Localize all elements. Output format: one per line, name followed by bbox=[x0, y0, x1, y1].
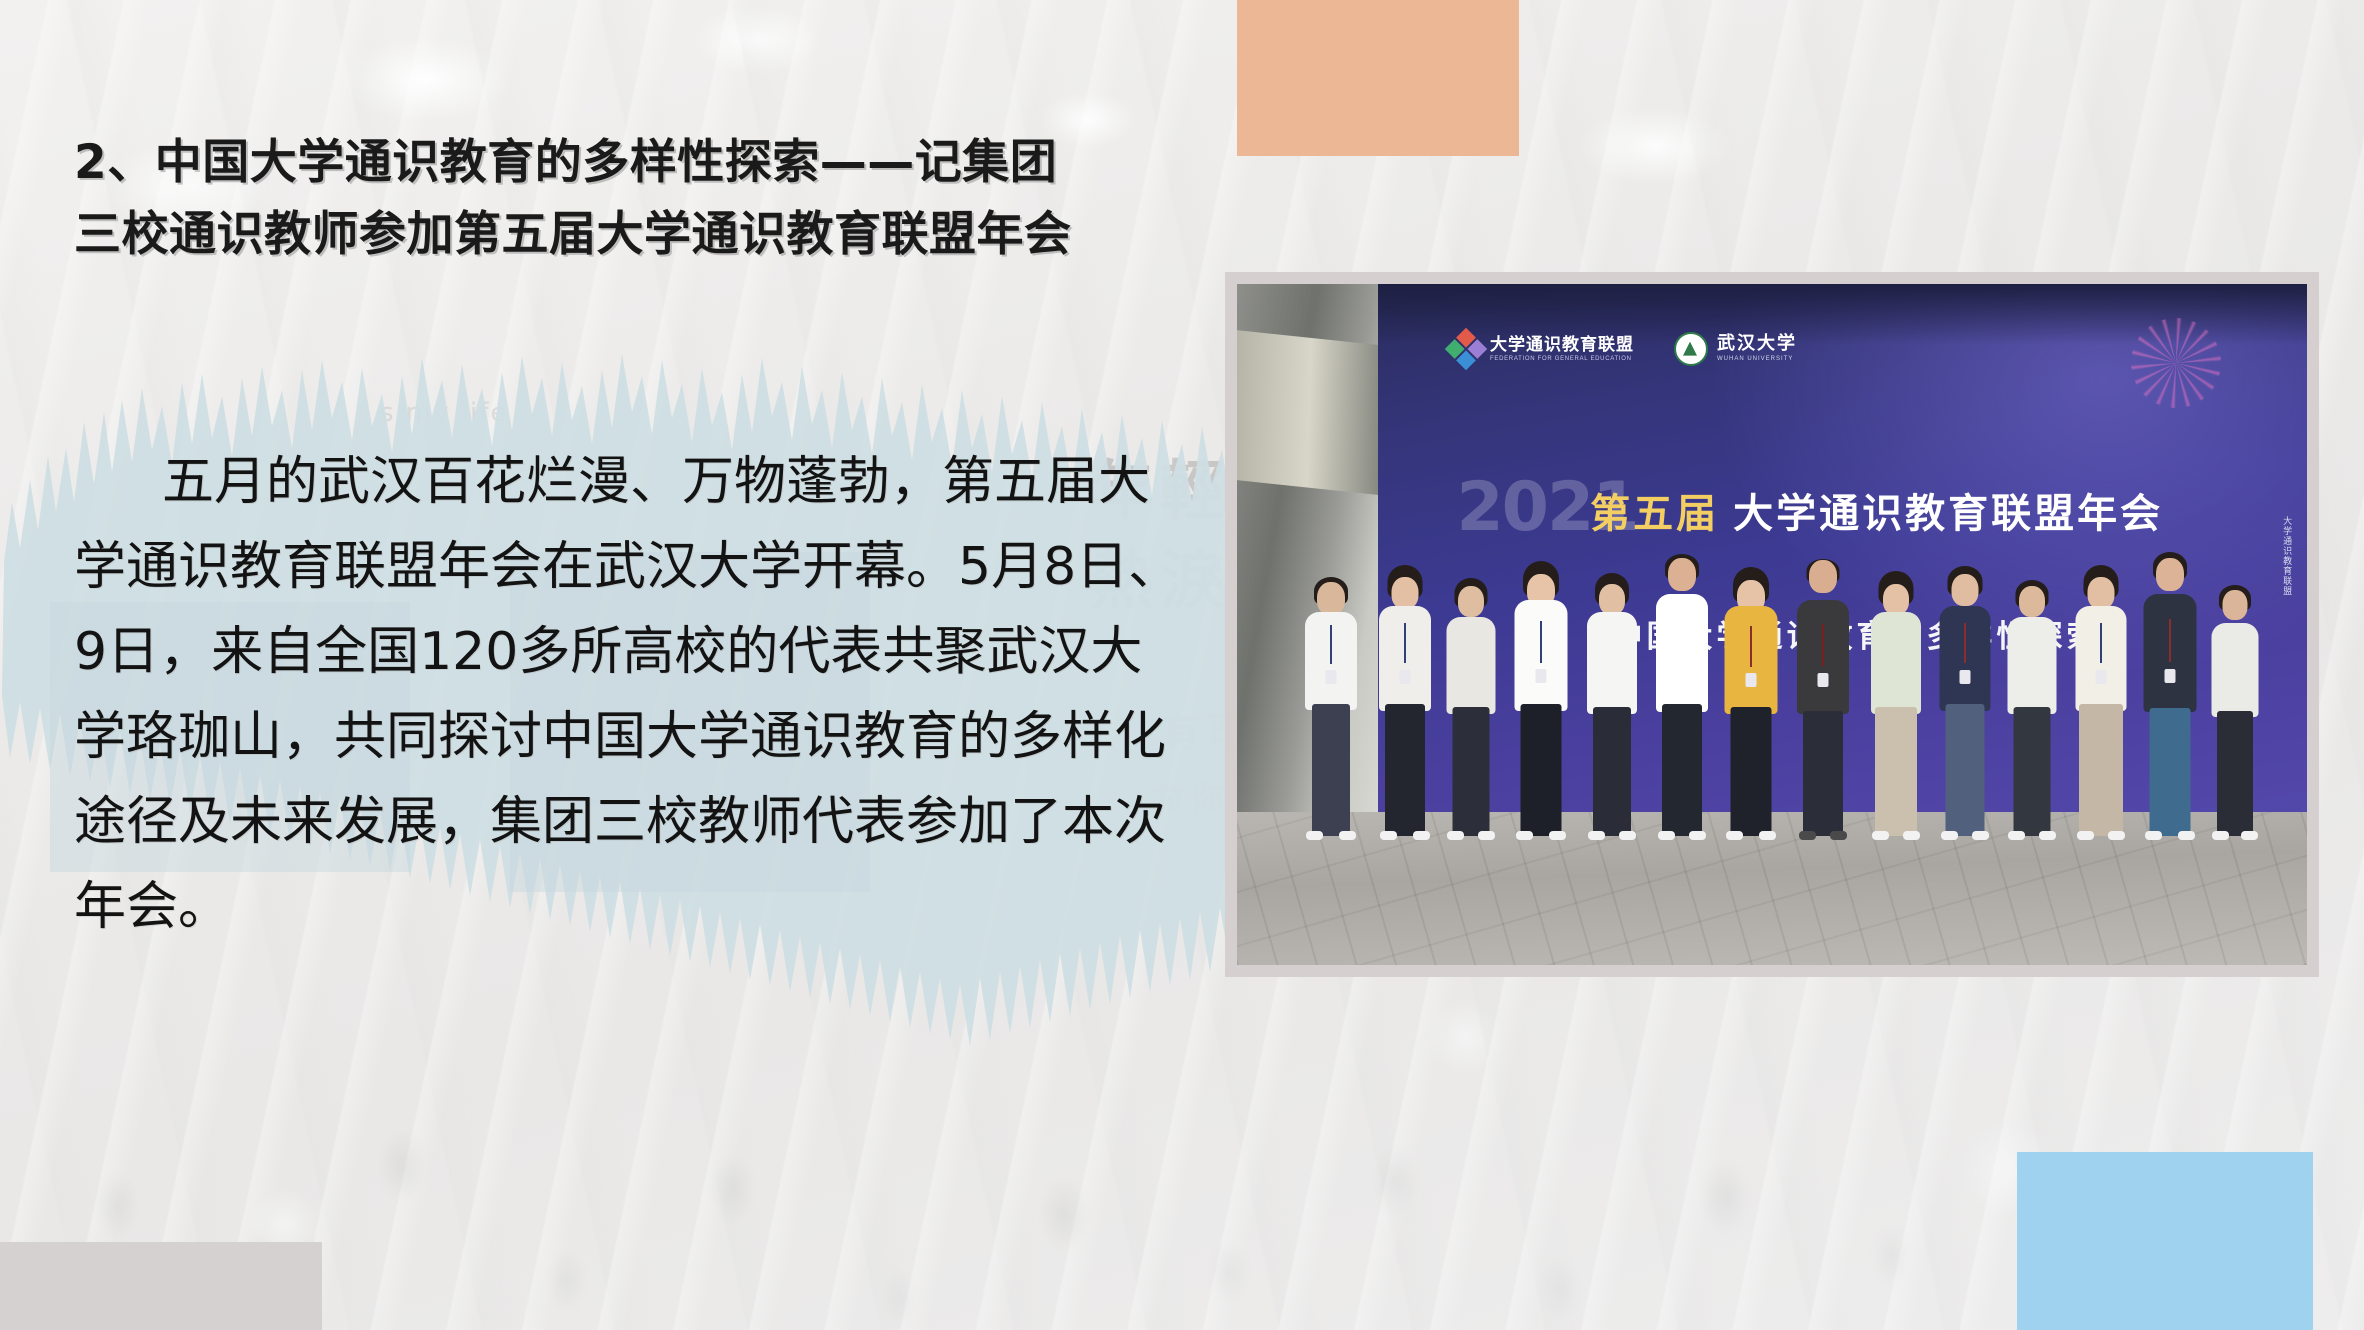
decorative-rect-peach bbox=[1237, 0, 1519, 156]
decorative-rect-blue bbox=[2017, 1152, 2313, 1330]
body-paragraph: 五月的武汉百花烂漫、万物蓬勃，第五届大 学通识教育联盟年会在武汉大学开幕。5月8… bbox=[74, 440, 1164, 950]
university-logo: 武汉大学 WUHAN UNIVERSITY bbox=[1674, 332, 1797, 366]
body-line-5: 途径及未来发展，集团三校教师代表参加了本次 bbox=[74, 780, 1164, 865]
body-line-2: 学通识教育联盟年会在武汉大学开幕。5月8日、 bbox=[74, 525, 1164, 610]
person-figure bbox=[1720, 498, 1782, 836]
university-name-en: WUHAN UNIVERSITY bbox=[1717, 356, 1797, 362]
banner-logo-row: 大学通识教育联盟 FEDERATION FOR GENERAL EDUCATIO… bbox=[1451, 332, 1797, 366]
body-line-4: 学珞珈山，共同探讨中国大学通识教育的多样化 bbox=[74, 695, 1164, 780]
alliance-diamond-icon bbox=[1445, 327, 1487, 369]
university-name-cn: 武汉大学 bbox=[1717, 335, 1797, 353]
presentation-slide: 年輕 熱淚 有理想的人不应该… 为你唱首歌 s my life 2、中国大学通识… bbox=[0, 0, 2364, 1330]
body-line-3: 9日，来自全国120多所高校的代表共聚武汉大 bbox=[74, 610, 1164, 695]
title-line-1: 2、中国大学通识教育的多样性探索——记集团 bbox=[74, 127, 1194, 199]
alliance-logo-en: FEDERATION FOR GENERAL EDUCATION bbox=[1490, 356, 1634, 362]
photo-people-row bbox=[1258, 413, 2307, 835]
person-figure bbox=[1867, 506, 1925, 835]
person-figure bbox=[1652, 481, 1712, 836]
person-figure bbox=[1442, 515, 1500, 836]
university-seal-icon bbox=[1674, 332, 1708, 366]
person-figure bbox=[2003, 515, 2061, 836]
firework-graphic bbox=[2131, 318, 2221, 408]
alliance-logo: 大学通识教育联盟 FEDERATION FOR GENERAL EDUCATIO… bbox=[1451, 334, 1634, 364]
person-figure bbox=[1300, 506, 1362, 835]
person-figure bbox=[2207, 523, 2263, 835]
person-figure bbox=[1583, 506, 1641, 835]
title-line-2: 三校通识教师参加第五届大学通识教育联盟年会 bbox=[74, 199, 1194, 271]
person-figure bbox=[2071, 498, 2131, 836]
group-photo: 大学通识教育联盟 FEDERATION FOR GENERAL EDUCATIO… bbox=[1237, 284, 2307, 965]
person-figure bbox=[1510, 489, 1572, 835]
alliance-logo-cn: 大学通识教育联盟 bbox=[1490, 336, 1634, 353]
person-figure bbox=[1935, 498, 1995, 836]
body-line-1: 五月的武汉百花烂漫、万物蓬勃，第五届大 bbox=[74, 440, 1164, 525]
person-figure bbox=[2139, 481, 2201, 836]
person-figure bbox=[1793, 489, 1853, 835]
person-figure bbox=[1374, 498, 1436, 836]
decorative-rect-gray bbox=[0, 1242, 322, 1330]
photo-frame: 大学通识教育联盟 FEDERATION FOR GENERAL EDUCATIO… bbox=[1225, 272, 2319, 977]
body-line-6: 年会。 bbox=[74, 865, 1164, 950]
slide-title: 2、中国大学通识教育的多样性探索——记集团 三校通识教师参加第五届大学通识教育联… bbox=[74, 127, 1194, 271]
